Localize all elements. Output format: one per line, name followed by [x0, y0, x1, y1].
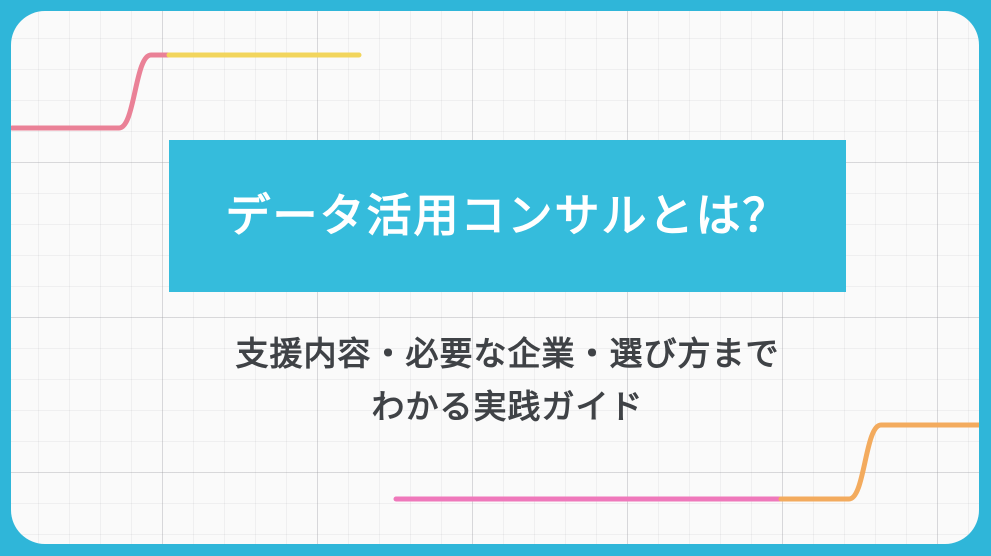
page-title: データ活用コンサルとは？ [225, 191, 789, 241]
subtitle-line-1: 支援内容・必要な企業・選び方まで [141, 327, 874, 380]
subtitle-block: 支援内容・必要な企業・選び方まで わかる実践ガイド [141, 327, 874, 434]
subtitle-line-2: わかる実践ガイド [141, 380, 874, 433]
paper-surface: データ活用コンサルとは？ 支援内容・必要な企業・選び方まで わかる実践ガイド [11, 11, 979, 544]
title-band: データ活用コンサルとは？ [169, 140, 846, 292]
slide-canvas: データ活用コンサルとは？ 支援内容・必要な企業・選び方まで わかる実践ガイド [0, 0, 991, 556]
